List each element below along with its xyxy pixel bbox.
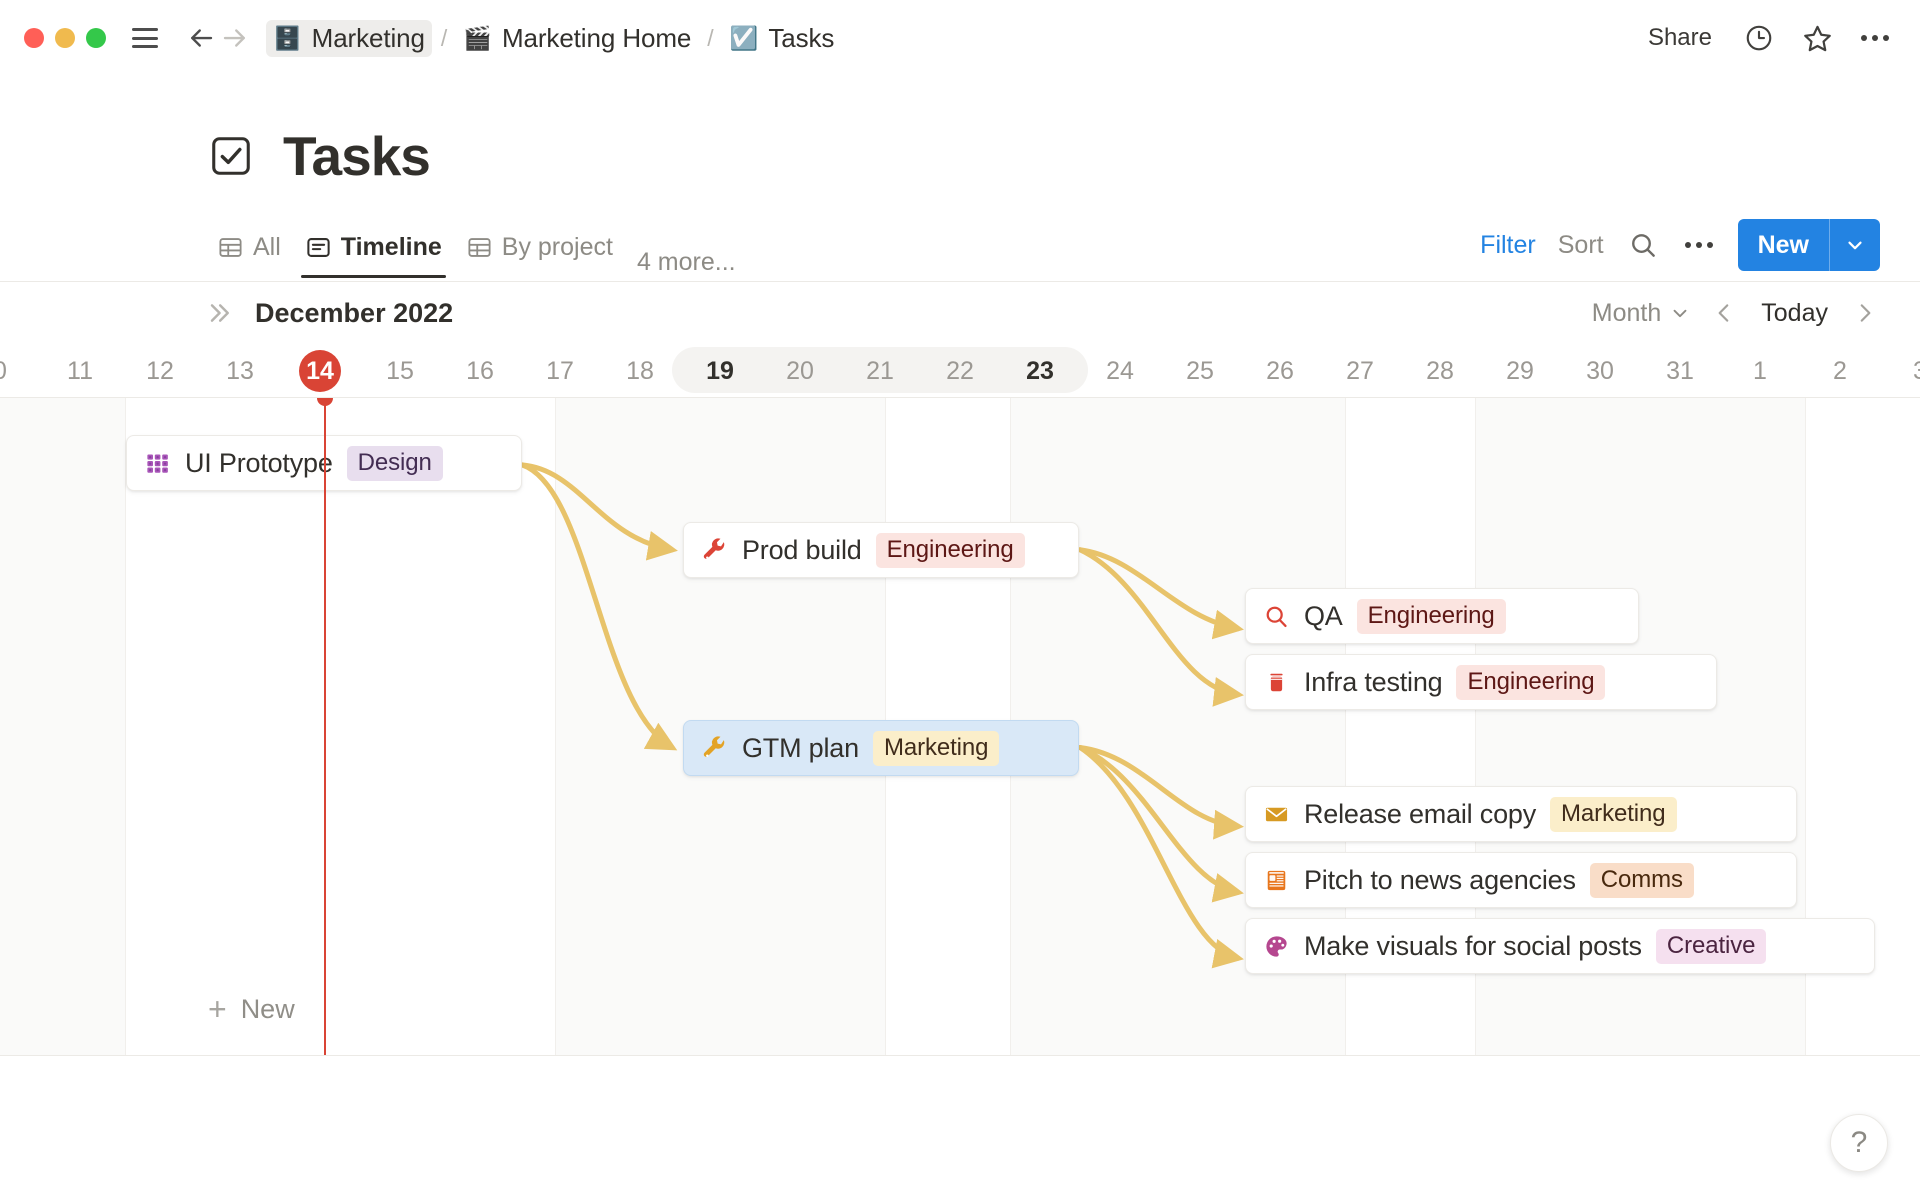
timeline-day-ruler: 0111213141516171819202122232425262728293… — [0, 344, 1920, 398]
ruler-day[interactable]: 19 — [680, 344, 760, 398]
ruler-day[interactable]: 31 — [1640, 344, 1720, 398]
breadcrumb-item-marketing-home[interactable]: 🎬 Marketing Home — [456, 20, 698, 57]
archive-box-icon: 🗄️ — [273, 27, 302, 50]
task-title: Release email copy — [1304, 799, 1536, 830]
timeline-nav: Month Today — [1592, 299, 1880, 328]
breadcrumb-separator: / — [441, 25, 447, 52]
ruler-day-label: 26 — [1266, 357, 1294, 386]
ruler-day-label: 27 — [1346, 357, 1374, 386]
back-button[interactable] — [184, 21, 218, 55]
ruler-day-label: 18 — [626, 357, 654, 386]
timeline-month-label: December 2022 — [255, 298, 453, 329]
traffic-lights — [24, 28, 106, 48]
plus-icon: + — [208, 993, 227, 1025]
timeline-today-button[interactable]: Today — [1757, 299, 1832, 328]
chevron-down-icon — [1669, 302, 1691, 324]
checkbox-icon — [205, 130, 257, 182]
ruler-day[interactable]: 15 — [360, 344, 440, 398]
timeline-zoom-select[interactable]: Month — [1592, 299, 1691, 328]
task-title: QA — [1304, 601, 1343, 632]
forward-button[interactable] — [218, 21, 252, 55]
ruler-day[interactable]: 17 — [520, 344, 600, 398]
task-tag: Engineering — [1357, 599, 1506, 634]
ruler-day-label: 16 — [466, 357, 494, 386]
filter-button[interactable]: Filter — [1480, 231, 1536, 260]
wrench-red-icon — [701, 537, 728, 564]
ruler-day[interactable]: 24 — [1080, 344, 1160, 398]
ruler-day[interactable]: 12 — [120, 344, 200, 398]
question-mark-icon: ? — [1851, 1126, 1868, 1160]
wrench-yellow-icon — [701, 735, 728, 762]
clock-icon[interactable] — [1742, 21, 1776, 55]
task-title: Make visuals for social posts — [1304, 931, 1642, 962]
view-tabs: All Timeline By project 4 more... — [205, 224, 748, 281]
new-button-label: New — [1738, 219, 1829, 271]
database-red-icon — [1263, 669, 1290, 696]
ruler-day-label: 20 — [786, 357, 814, 386]
ruler-day-label: 24 — [1106, 357, 1134, 386]
ruler-day[interactable]: 22 — [920, 344, 1000, 398]
ruler-day[interactable]: 25 — [1160, 344, 1240, 398]
ruler-day[interactable]: 16 — [440, 344, 520, 398]
timeline-grid: UI Prototype Design Prod build Engineeri… — [0, 398, 1920, 1056]
timeline-new-row-label: New — [241, 994, 295, 1025]
help-button[interactable]: ? — [1830, 1114, 1888, 1172]
notion-window: 🗄️ Marketing / 🎬 Marketing Home / ☑️ Tas… — [0, 0, 1920, 1200]
timeline-icon — [305, 234, 332, 261]
ruler-day[interactable]: 26 — [1240, 344, 1320, 398]
ruler-day[interactable]: 13 — [200, 344, 280, 398]
task-title: Pitch to news agencies — [1304, 865, 1576, 896]
ruler-day[interactable]: 21 — [840, 344, 920, 398]
wrench-red-icon — [701, 537, 728, 564]
window-titlebar: 🗄️ Marketing / 🎬 Marketing Home / ☑️ Tas… — [0, 0, 1920, 76]
task-tag: Engineering — [876, 533, 1025, 568]
breadcrumb-item-marketing[interactable]: 🗄️ Marketing — [266, 20, 432, 57]
ruler-day[interactable]: 0 — [0, 344, 40, 398]
chevron-down-icon[interactable] — [1830, 219, 1880, 271]
task-card-gtm-plan[interactable]: GTM plan Marketing — [683, 720, 1079, 776]
ruler-day-label: 19 — [706, 357, 734, 386]
task-card-release-email-copy[interactable]: Release email copy Marketing — [1245, 786, 1797, 842]
task-card-qa[interactable]: QA Engineering — [1245, 588, 1639, 644]
tab-by-project[interactable]: By project — [454, 224, 625, 281]
view-tabs-bar: All Timeline By project 4 more... Filter… — [0, 224, 1920, 282]
ruler-day-label: 13 — [226, 357, 254, 386]
ruler-day-label: 23 — [1026, 357, 1054, 386]
ruler-day-label: 25 — [1186, 357, 1214, 386]
newspaper-orange-icon — [1263, 867, 1290, 894]
ruler-day[interactable]: 29 — [1480, 344, 1560, 398]
checkbox-icon: ☑️ — [730, 27, 759, 50]
envelope-yellow-icon — [1263, 801, 1290, 828]
task-card-infra-testing[interactable]: Infra testing Engineering — [1245, 654, 1717, 710]
ruler-day[interactable]: 1 — [1720, 344, 1800, 398]
task-tag: Design — [347, 446, 443, 481]
view-toolbar: Filter Sort New — [1480, 219, 1880, 281]
ruler-day-label: 15 — [386, 357, 414, 386]
maximize-window-button[interactable] — [86, 28, 106, 48]
task-title: Prod build — [742, 535, 862, 566]
ruler-day-label: 11 — [67, 357, 93, 386]
task-title: GTM plan — [742, 733, 859, 764]
star-icon[interactable] — [1800, 21, 1834, 55]
ruler-day-label: 1 — [1753, 357, 1767, 386]
ruler-day-label: 14 — [306, 357, 334, 386]
ruler-day[interactable]: 27 — [1320, 344, 1400, 398]
newspaper-orange-icon — [1263, 867, 1290, 894]
more-views-button[interactable]: 4 more... — [625, 248, 748, 277]
timeline-prev-button[interactable] — [1709, 300, 1739, 326]
clapperboard-icon: 🎬 — [463, 27, 492, 50]
ruler-day[interactable]: 20 — [760, 344, 840, 398]
ruler-day-label: 3 — [1913, 357, 1920, 386]
timeline-toolbar: December 2022 Month Today — [0, 282, 1920, 344]
task-title: Infra testing — [1304, 667, 1442, 698]
grid-purple-icon — [144, 450, 171, 477]
page-title: Tasks — [283, 124, 430, 188]
ruler-day-label: 12 — [146, 357, 174, 386]
ruler-day[interactable]: 2 — [1800, 344, 1880, 398]
tab-timeline[interactable]: Timeline — [293, 224, 454, 281]
sort-button[interactable]: Sort — [1558, 231, 1604, 260]
ruler-day-label: 31 — [1666, 357, 1694, 386]
palette-pink-icon — [1263, 933, 1290, 960]
view-options-icon[interactable] — [1682, 228, 1716, 262]
breadcrumb: 🗄️ Marketing / 🎬 Marketing Home / ☑️ Tas… — [266, 20, 841, 57]
grid-purple-icon — [144, 450, 171, 477]
magnifier-red-icon — [1263, 603, 1290, 630]
table-icon — [466, 234, 493, 261]
ruler-day-label: 22 — [946, 357, 974, 386]
ruler-day[interactable]: 3 — [1880, 344, 1920, 398]
timeline-zoom-label: Month — [1592, 299, 1661, 328]
ruler-day-label: 0 — [0, 357, 7, 386]
wrench-yellow-icon — [701, 735, 728, 762]
task-tag: Engineering — [1456, 665, 1605, 700]
breadcrumb-label: Marketing — [312, 23, 425, 54]
task-tag: Marketing — [873, 731, 999, 766]
close-window-button[interactable] — [24, 28, 44, 48]
today-indicator-line — [324, 398, 326, 1055]
ruler-day[interactable]: 23 — [1000, 344, 1080, 398]
share-button[interactable]: Share — [1642, 20, 1718, 56]
magnifier-red-icon — [1263, 603, 1290, 630]
task-tag: Marketing — [1550, 797, 1676, 832]
search-icon[interactable] — [1626, 228, 1660, 262]
task-card-pitch-to-news-agencies[interactable]: Pitch to news agencies Comms — [1245, 852, 1797, 908]
titlebar-actions: Share — [1642, 20, 1892, 56]
ruler-day-label: 28 — [1426, 357, 1454, 386]
breadcrumb-label: Tasks — [768, 23, 834, 54]
page-footer — [0, 1056, 1920, 1118]
tab-label: Timeline — [341, 233, 442, 262]
task-card-make-visuals-for-social-posts[interactable]: Make visuals for social posts Creative — [1245, 918, 1875, 974]
timeline-new-row-button[interactable]: + New — [208, 993, 295, 1025]
ruler-day-label: 30 — [1586, 357, 1614, 386]
minimize-window-button[interactable] — [55, 28, 75, 48]
ruler-day-label: 2 — [1833, 357, 1847, 386]
ruler-day-today[interactable]: 14 — [280, 344, 360, 398]
ellipsis-icon[interactable] — [1858, 21, 1892, 55]
ruler-day[interactable]: 28 — [1400, 344, 1480, 398]
tab-label: All — [253, 233, 281, 262]
ruler-day-label: 21 — [866, 357, 894, 386]
ruler-day[interactable]: 18 — [600, 344, 680, 398]
breadcrumb-label: Marketing Home — [502, 23, 691, 54]
page-header: Tasks — [0, 76, 1920, 188]
tab-all[interactable]: All — [205, 224, 293, 281]
table-icon — [217, 234, 244, 261]
task-tag: Comms — [1590, 863, 1694, 898]
ruler-day[interactable]: 30 — [1560, 344, 1640, 398]
breadcrumb-separator: / — [707, 25, 713, 52]
timeline-next-button[interactable] — [1850, 300, 1880, 326]
task-tag: Creative — [1656, 929, 1767, 964]
envelope-yellow-icon — [1263, 801, 1290, 828]
sidebar-toggle-icon[interactable] — [132, 28, 158, 48]
database-red-icon — [1263, 669, 1290, 696]
tab-label: By project — [502, 233, 613, 262]
ruler-day-label: 17 — [546, 357, 574, 386]
task-card-prod-build[interactable]: Prod build Engineering — [683, 522, 1079, 578]
task-title: UI Prototype — [185, 448, 333, 479]
breadcrumb-item-tasks[interactable]: ☑️ Tasks — [723, 20, 842, 57]
ruler-day[interactable]: 11 — [40, 344, 120, 398]
ruler-day-label: 29 — [1506, 357, 1534, 386]
palette-pink-icon — [1263, 933, 1290, 960]
double-chevron-right-icon[interactable] — [205, 299, 233, 327]
new-button[interactable]: New — [1738, 219, 1880, 271]
